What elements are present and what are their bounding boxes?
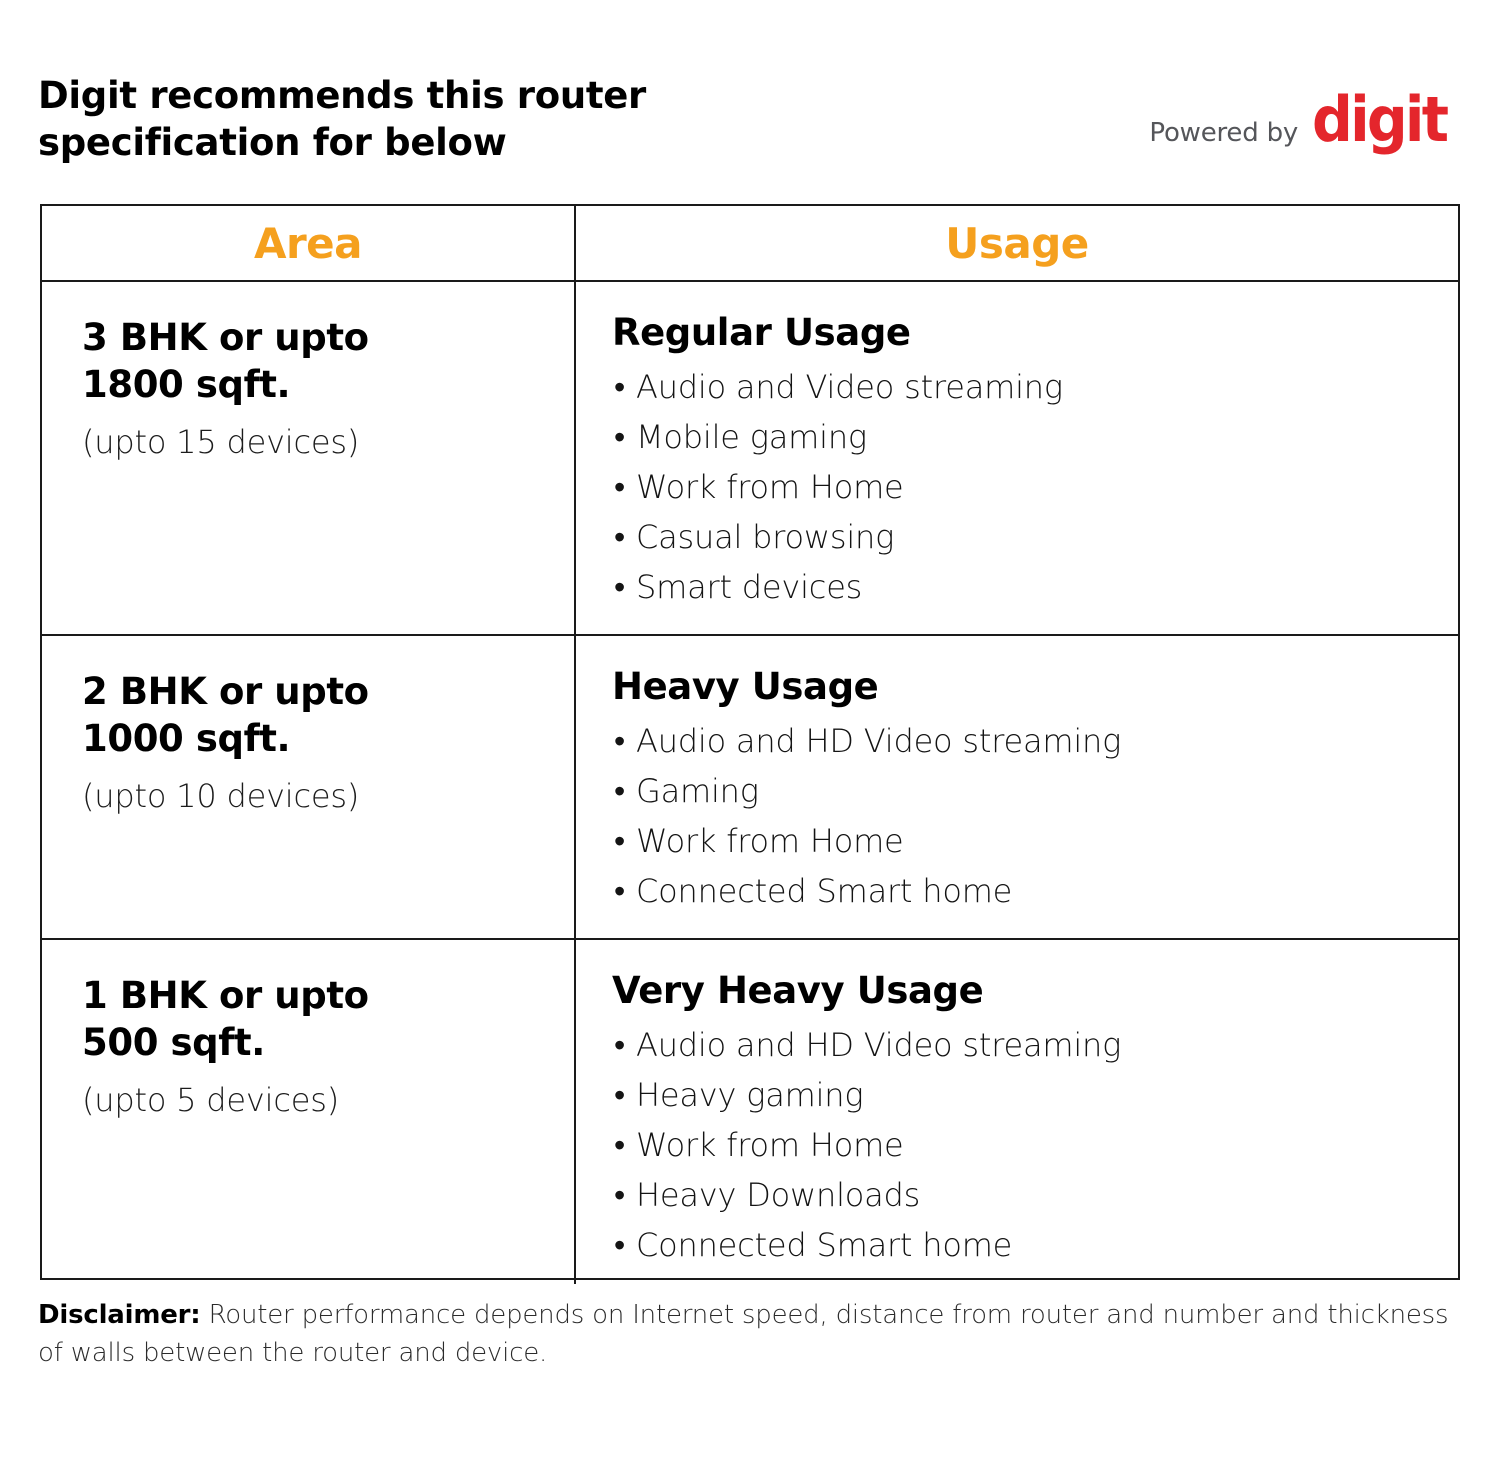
usage-list-item-label: Heavy gaming [636, 1076, 863, 1114]
router-spec-table: Area Usage 3 BHK or upto 1800 sqft. (upt… [40, 204, 1460, 1280]
usage-list-item: •Connected Smart home [612, 1220, 1458, 1270]
usage-list-item-label: Casual browsing [636, 518, 894, 556]
usage-list-item: •Audio and Video streaming [612, 362, 1458, 412]
bullet-icon: • [614, 412, 625, 462]
table-header-row: Area Usage [42, 206, 1458, 282]
disclaimer: Disclaimer: Router performance depends o… [38, 1296, 1470, 1372]
bullet-icon: • [614, 1070, 625, 1120]
usage-list-item-label: Audio and HD Video streaming [636, 1026, 1121, 1064]
table-header-cell-area: Area [42, 206, 576, 280]
bullet-icon: • [614, 562, 625, 612]
usage-heading: Heavy Usage [612, 664, 1458, 710]
usage-list-item-label: Work from Home [636, 468, 904, 506]
table-row: 3 BHK or upto 1800 sqft. (upto 15 device… [42, 282, 1458, 636]
table-row: 2 BHK or upto 1000 sqft. (upto 10 device… [42, 636, 1458, 940]
usage-list-item: •Audio and HD Video streaming [612, 716, 1458, 766]
column-header-usage: Usage [576, 206, 1458, 280]
usage-list-item-label: Connected Smart home [636, 1226, 1012, 1264]
powered-by-label: Powered by [1149, 118, 1298, 148]
bullet-icon: • [614, 1120, 625, 1170]
usage-list-item: •Casual browsing [612, 512, 1458, 562]
usage-list-item-label: Smart devices [636, 568, 862, 606]
page-title: Digit recommends this router specificati… [38, 72, 738, 166]
usage-list-item-label: Work from Home [636, 822, 904, 860]
usage-list-item-label: Gaming [636, 772, 759, 810]
brand-lockup: Powered by digit [1149, 92, 1458, 148]
bullet-icon: • [614, 1170, 625, 1220]
usage-list-item: •Audio and HD Video streaming [612, 1020, 1458, 1070]
area-heading: 1 BHK or upto 500 sqft. [82, 972, 574, 1066]
usage-list-item: •Gaming [612, 766, 1458, 816]
digit-logo: digit [1312, 92, 1446, 148]
bullet-icon: • [614, 766, 625, 816]
bullet-icon: • [614, 1020, 625, 1070]
bullet-icon: • [614, 462, 625, 512]
usage-list-item: •Connected Smart home [612, 866, 1458, 916]
area-heading: 3 BHK or upto 1800 sqft. [82, 314, 574, 408]
usage-list-item: •Work from Home [612, 462, 1458, 512]
usage-list-item: •Work from Home [612, 816, 1458, 866]
area-device-count: (upto 15 devices) [82, 422, 574, 462]
usage-heading: Very Heavy Usage [612, 968, 1458, 1014]
infographic-page: Digit recommends this router specificati… [0, 0, 1500, 1457]
usage-list-item: •Mobile gaming [612, 412, 1458, 462]
table-row: 1 BHK or upto 500 sqft. (upto 5 devices)… [42, 940, 1458, 1284]
bullet-icon: • [614, 716, 625, 766]
usage-list-item: •Work from Home [612, 1120, 1458, 1170]
page-header: Digit recommends this router specificati… [0, 0, 1500, 204]
column-header-area: Area [42, 206, 574, 280]
table-cell-area: 2 BHK or upto 1000 sqft. (upto 10 device… [42, 636, 576, 938]
usage-heading: Regular Usage [612, 310, 1458, 356]
usage-list-item: •Heavy Downloads [612, 1170, 1458, 1220]
table-cell-usage: Very Heavy Usage •Audio and HD Video str… [576, 940, 1458, 1284]
usage-list-item-label: Connected Smart home [636, 872, 1012, 910]
table-cell-area: 3 BHK or upto 1800 sqft. (upto 15 device… [42, 282, 576, 634]
usage-list-item-label: Audio and Video streaming [636, 368, 1063, 406]
disclaimer-text: Router performance depends on Internet s… [38, 1300, 1448, 1368]
table-cell-usage: Regular Usage •Audio and Video streaming… [576, 282, 1458, 634]
usage-list-item-label: Mobile gaming [636, 418, 867, 456]
table-cell-area: 1 BHK or upto 500 sqft. (upto 5 devices) [42, 940, 576, 1284]
usage-list-item-label: Audio and HD Video streaming [636, 722, 1121, 760]
usage-list-item-label: Work from Home [636, 1126, 904, 1164]
usage-list-item: •Smart devices [612, 562, 1458, 612]
table-cell-usage: Heavy Usage •Audio and HD Video streamin… [576, 636, 1458, 938]
table-header-cell-usage: Usage [576, 206, 1458, 280]
usage-list: •Audio and Video streaming•Mobile gaming… [612, 362, 1458, 612]
usage-list: •Audio and HD Video streaming•Gaming•Wor… [612, 716, 1458, 916]
bullet-icon: • [614, 866, 625, 916]
bullet-icon: • [614, 362, 625, 412]
usage-list-item-label: Heavy Downloads [636, 1176, 920, 1214]
usage-list-item: •Heavy gaming [612, 1070, 1458, 1120]
disclaimer-label: Disclaimer: [38, 1300, 201, 1330]
usage-list: •Audio and HD Video streaming•Heavy gami… [612, 1020, 1458, 1270]
bullet-icon: • [614, 1220, 625, 1270]
bullet-icon: • [614, 816, 625, 866]
area-device-count: (upto 10 devices) [82, 776, 574, 816]
bullet-icon: • [614, 512, 625, 562]
area-device-count: (upto 5 devices) [82, 1080, 574, 1120]
area-heading: 2 BHK or upto 1000 sqft. [82, 668, 574, 762]
